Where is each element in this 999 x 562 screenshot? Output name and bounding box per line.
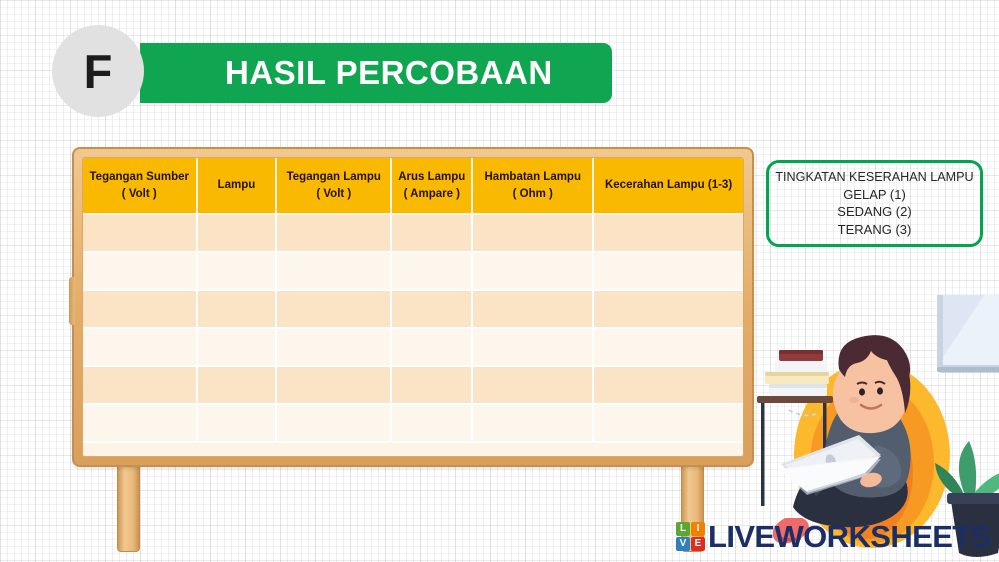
table-row [83, 404, 743, 442]
table-cell-answer[interactable] [83, 404, 197, 442]
table-cell-answer[interactable] [593, 328, 743, 366]
table-cell-answer[interactable] [472, 252, 593, 290]
table-cell-answer[interactable] [593, 404, 743, 442]
table-cell-answer[interactable] [472, 366, 593, 404]
column-header-unit: ( Volt ) [86, 186, 193, 203]
section-letter-badge: F [52, 25, 144, 117]
table-cell-answer[interactable] [472, 404, 593, 442]
table-cell-answer[interactable] [391, 366, 472, 404]
board-frame: Tegangan Sumber ( Volt ) Lampu Tegangan … [72, 147, 754, 467]
table-cell-answer[interactable] [83, 328, 197, 366]
table-cell-answer[interactable] [391, 404, 472, 442]
window-panel-icon [937, 295, 999, 373]
table-cell-answer[interactable] [472, 328, 593, 366]
table-row [83, 290, 743, 328]
table-cell-answer[interactable] [276, 328, 391, 366]
section-header-banner: HASIL PERCOBAAN [140, 43, 612, 103]
column-header-label: Arus Lampu [398, 171, 465, 183]
liveworksheets-logo-tiles: L I V E [676, 522, 705, 551]
column-header-tegangan-sumber: Tegangan Sumber ( Volt ) [83, 158, 197, 214]
table-cell-answer[interactable] [197, 252, 277, 290]
table-cell-answer[interactable] [276, 214, 391, 252]
column-header-label: Kecerahan Lampu (1-3) [605, 179, 732, 191]
board-side-notch [69, 277, 75, 325]
board-inner-panel: Tegangan Sumber ( Volt ) Lampu Tegangan … [82, 157, 744, 457]
column-header-label: Tegangan Lampu [287, 171, 381, 183]
column-header-hambatan-lampu: Hambatan Lampu ( Ohm ) [472, 158, 593, 214]
table-cell-answer[interactable] [593, 366, 743, 404]
logo-tile-l: L [676, 522, 690, 536]
column-header-label: Tegangan Sumber [90, 171, 189, 183]
table-cell-answer[interactable] [391, 252, 472, 290]
table-cell-answer[interactable] [197, 366, 277, 404]
table-cell-answer[interactable] [276, 252, 391, 290]
table-cell-answer[interactable] [197, 328, 277, 366]
table-cell-answer[interactable] [472, 290, 593, 328]
table-cell-answer[interactable] [391, 290, 472, 328]
column-header-label: Lampu [218, 179, 256, 191]
legend-title: TINGKATAN KESERAHAN LAMPU [775, 169, 973, 186]
column-header-label: Hambatan Lampu [485, 171, 582, 183]
table-row [83, 328, 743, 366]
table-cell-answer[interactable] [83, 366, 197, 404]
column-header-unit: ( Volt ) [280, 186, 387, 203]
table-cell-answer[interactable] [391, 328, 472, 366]
brightness-legend-box: TINGKATAN KESERAHAN LAMPU GELAP (1) SEDA… [766, 160, 983, 247]
logo-tile-e: E [691, 537, 705, 551]
section-letter-badge-label: F [84, 48, 113, 95]
table-cell-answer[interactable] [276, 366, 391, 404]
table-cell-answer[interactable] [197, 404, 277, 442]
liveworksheets-logo: L I V E LIVEWORKSHEETS [676, 518, 991, 554]
table-row [83, 214, 743, 252]
column-header-kecerahan-lampu: Kecerahan Lampu (1-3) [593, 158, 743, 214]
column-header-unit: ( Ohm ) [476, 186, 589, 203]
eye-right [877, 387, 883, 394]
logo-tile-v: V [676, 537, 690, 551]
table-cell-answer[interactable] [276, 404, 391, 442]
column-header-arus-lampu: Arus Lampu ( Ampare ) [391, 158, 472, 214]
table-row [83, 366, 743, 404]
table-cell-answer[interactable] [593, 290, 743, 328]
section-header: HASIL PERCOBAAN F [52, 25, 617, 120]
column-header-lampu: Lampu [197, 158, 277, 214]
board-leg-left [117, 457, 140, 552]
column-header-unit: ( Ampare ) [395, 186, 468, 203]
eye-left [859, 388, 865, 395]
liveworksheets-wordmark: LIVEWORKSHEETS [708, 521, 991, 552]
logo-tile-i: I [691, 522, 705, 536]
table-body [83, 214, 743, 442]
table-cell-answer[interactable] [83, 214, 197, 252]
table-cell-answer[interactable] [391, 214, 472, 252]
results-table: Tegangan Sumber ( Volt ) Lampu Tegangan … [83, 158, 743, 443]
table-cell-answer[interactable] [593, 252, 743, 290]
table-cell-answer[interactable] [83, 290, 197, 328]
legend-item-gelap: GELAP (1) [843, 186, 906, 203]
table-cell-answer[interactable] [83, 252, 197, 290]
page-title: HASIL PERCOBAAN [225, 54, 553, 92]
worksheet-page: HASIL PERCOBAAN F [0, 0, 999, 562]
legend-item-terang: TERANG (3) [838, 221, 912, 238]
table-cell-answer[interactable] [276, 290, 391, 328]
table-row [83, 252, 743, 290]
table-header-row: Tegangan Sumber ( Volt ) Lampu Tegangan … [83, 158, 743, 214]
column-header-tegangan-lampu: Tegangan Lampu ( Volt ) [276, 158, 391, 214]
head [833, 335, 910, 433]
wooden-board: Tegangan Sumber ( Volt ) Lampu Tegangan … [72, 147, 754, 557]
table-cell-answer[interactable] [197, 290, 277, 328]
table-cell-answer[interactable] [593, 214, 743, 252]
legend-item-sedang: SEDANG (2) [837, 203, 911, 220]
table-cell-answer[interactable] [197, 214, 277, 252]
table-cell-answer[interactable] [472, 214, 593, 252]
